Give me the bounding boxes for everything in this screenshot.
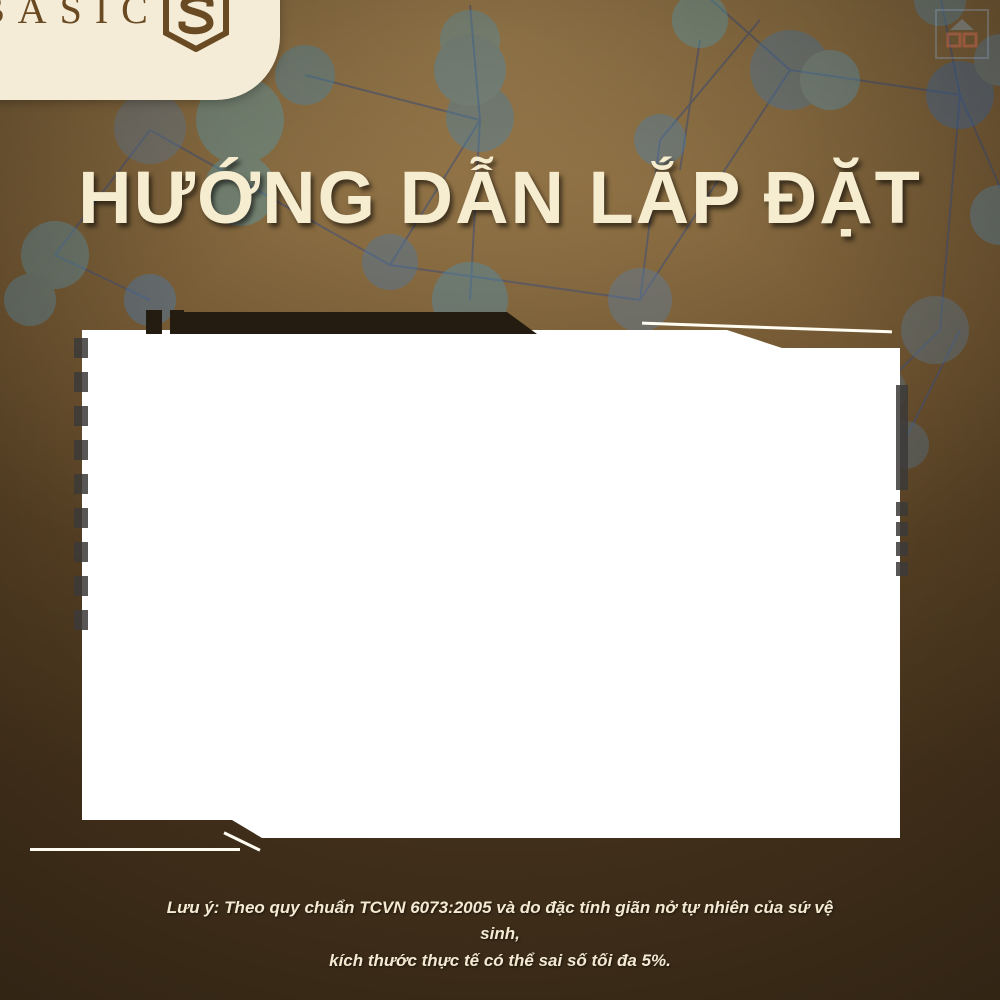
panel-edge-dash bbox=[896, 542, 908, 556]
panel-edge-dash bbox=[74, 338, 88, 358]
panel-edge-dash bbox=[74, 576, 88, 596]
panel-edge-dash bbox=[896, 562, 908, 576]
watermark-logo bbox=[930, 4, 994, 64]
panel-edge-dash bbox=[74, 406, 88, 426]
panel-edge-dash bbox=[74, 372, 88, 392]
panel-edge-dash bbox=[74, 508, 88, 528]
panel-edge-dash bbox=[74, 474, 88, 494]
footer-note-line-1: Lưu ý: Theo quy chuẩn TCVN 6073:2005 và … bbox=[0, 895, 1000, 948]
hexagon-s-monogram-icon bbox=[160, 0, 232, 52]
corner-accent-bottom-left bbox=[30, 848, 240, 851]
page-title: HƯỚNG DẪN LẮP ĐẶT bbox=[0, 155, 1000, 240]
panel-edge-dash bbox=[74, 610, 88, 630]
panel-top-tab-1 bbox=[146, 310, 162, 334]
brand-name: BASIC bbox=[0, 0, 161, 33]
drawing-panel-surface bbox=[82, 330, 900, 838]
footer-note: Lưu ý: Theo quy chuẩn TCVN 6073:2005 và … bbox=[0, 895, 1000, 974]
panel-edge-dash bbox=[896, 385, 908, 490]
panel-top-tab-2 bbox=[170, 310, 184, 334]
installation-guide-page: BASIC HƯỚNG DẪN LẮP ĐẶT bbox=[0, 0, 1000, 1000]
panel-edge-dash bbox=[74, 542, 88, 562]
panel-top-bar bbox=[177, 312, 537, 334]
footer-note-line-2: kích thước thực tế có thể sai số tối đa … bbox=[0, 948, 1000, 974]
panel-edge-dash bbox=[896, 522, 908, 536]
drawing-panel: 435 130 150 850 - 870 580 550 - 570 Cấp … bbox=[82, 330, 900, 838]
brand-banner: BASIC bbox=[0, 0, 280, 100]
panel-edge-dash bbox=[74, 440, 88, 460]
panel-edge-dash bbox=[896, 502, 908, 516]
